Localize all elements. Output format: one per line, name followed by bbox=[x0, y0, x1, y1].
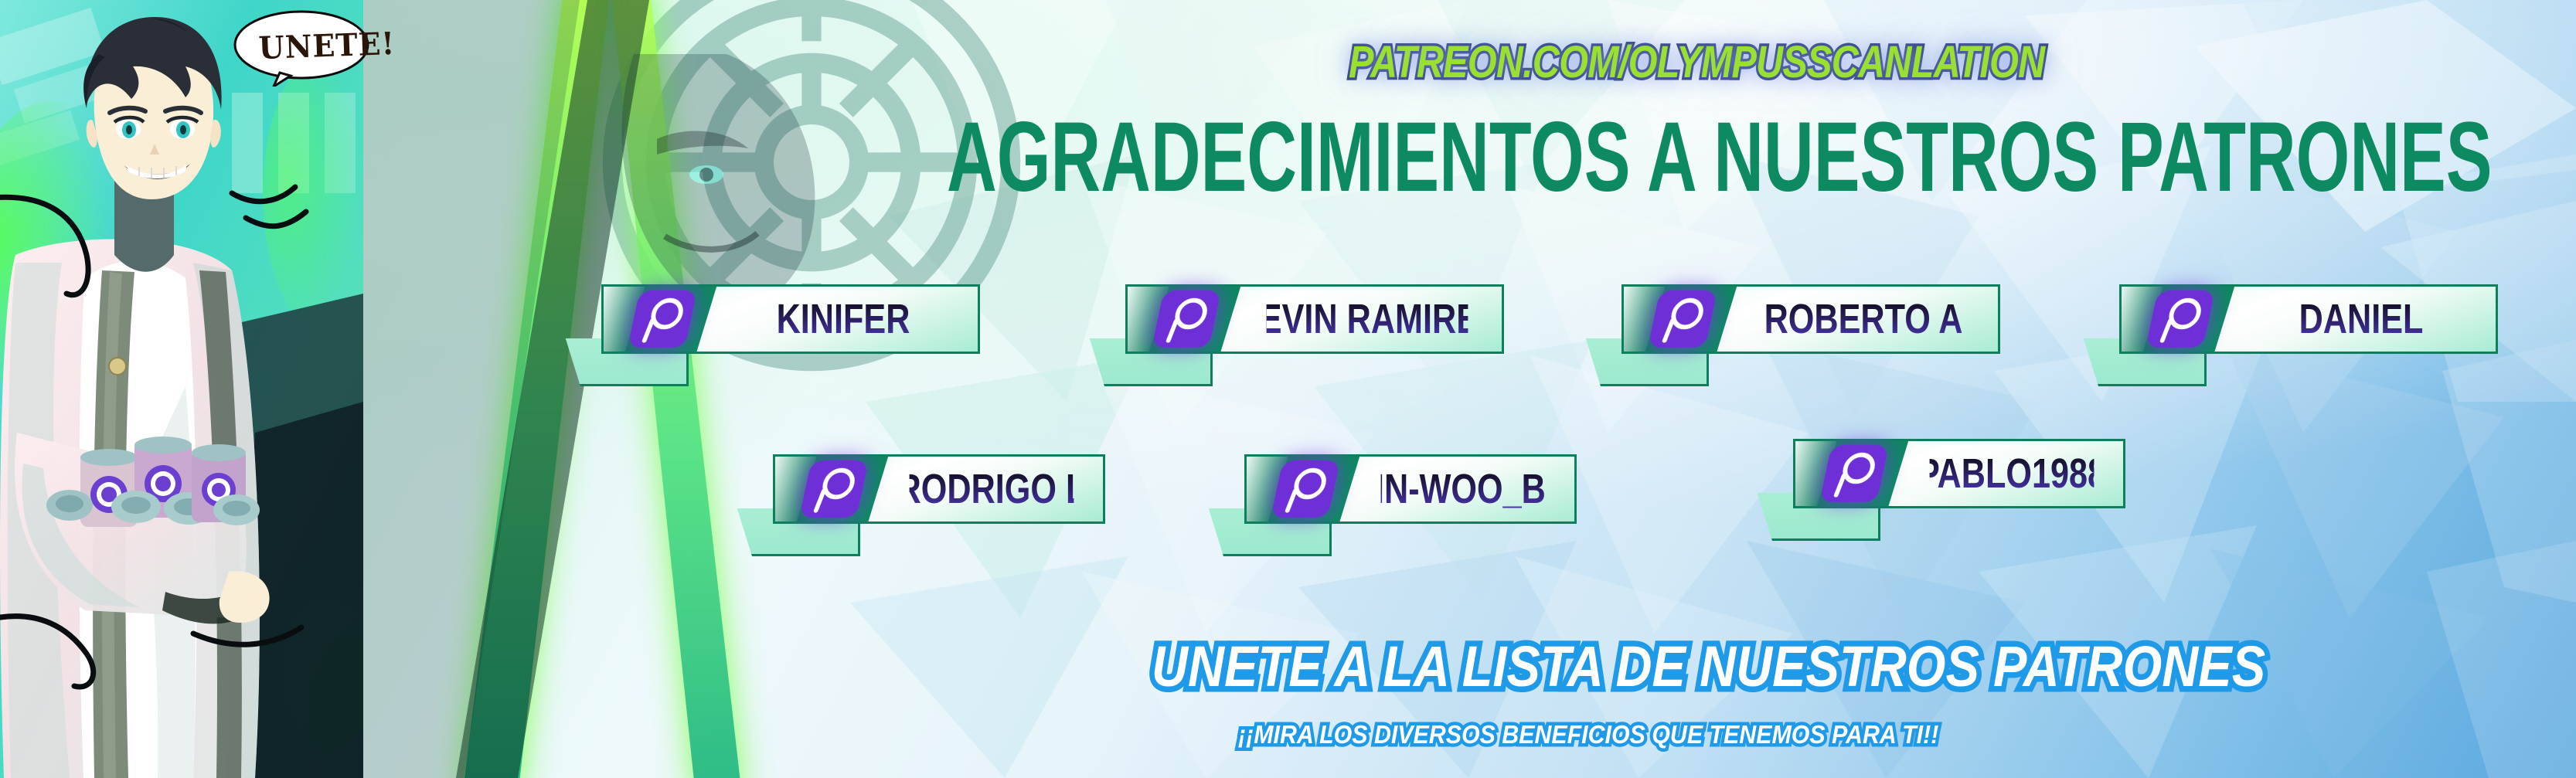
patron-name: ROBERTO A bbox=[1763, 284, 1965, 354]
patreon-url-text[interactable]: PATREON.COM/OLYMPUSSCANLATION bbox=[1349, 40, 2044, 85]
patreon-logo-icon bbox=[1819, 445, 1889, 502]
patron-badge[interactable]: DANIEL bbox=[2119, 284, 2498, 354]
patreon-logo-icon bbox=[1152, 290, 1221, 348]
patron-name: KEVIN RAMIREZ bbox=[1267, 284, 1468, 354]
patreon-thanks-banner: UNETE! PATREON.COM/OLYMPUSSCANLATION AGR… bbox=[0, 0, 2576, 778]
patron-name: DANIEL bbox=[2261, 284, 2462, 354]
patron-badge[interactable]: KINIFER bbox=[601, 284, 980, 354]
character-artwork bbox=[0, 0, 363, 778]
cta-subtext: ¡¡MIRA LOS DIVERSOS BENEFICIOS QUE TENEM… bbox=[1238, 722, 1938, 747]
cta-headline[interactable]: UNETE A LA LISTA DE NUESTROS PATRONES bbox=[1152, 638, 2265, 695]
patron-name: JIN-WOO_BR bbox=[1381, 454, 1546, 524]
patron-badge[interactable]: KEVIN RAMIREZ bbox=[1125, 284, 1504, 354]
patron-name: KINIFER bbox=[743, 284, 944, 354]
patreon-logo-icon bbox=[628, 290, 697, 348]
patron-badge[interactable]: ROBERTO A bbox=[1621, 284, 2000, 354]
patreon-logo-icon bbox=[2146, 290, 2215, 348]
page-title: AGRADECIMIENTOS A NUESTROS PATRONES bbox=[947, 108, 2493, 207]
speech-bubble-text: UNETE! bbox=[258, 25, 396, 66]
patron-name: RODRIGO L bbox=[910, 454, 1074, 524]
patron-badge[interactable]: RODRIGO L bbox=[773, 454, 1105, 524]
patron-badge[interactable]: JIN-WOO_BR bbox=[1244, 454, 1577, 524]
patreon-logo-icon bbox=[799, 460, 869, 518]
patreon-logo-icon bbox=[1648, 290, 1717, 348]
patron-name: PABLO1988 bbox=[1930, 439, 2094, 508]
patron-badge[interactable]: PABLO1988 bbox=[1793, 439, 2125, 508]
patreon-logo-icon bbox=[1271, 460, 1340, 518]
